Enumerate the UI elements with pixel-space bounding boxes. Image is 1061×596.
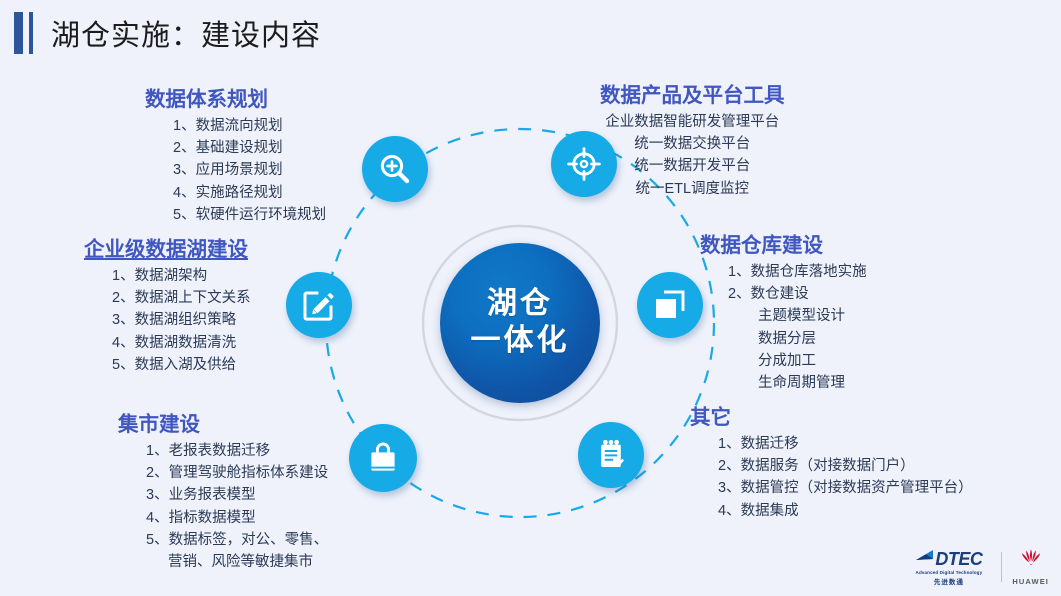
node-warehouse[interactable] xyxy=(637,272,703,338)
list-item: 2、数据服务（对接数据门户） xyxy=(718,455,973,477)
list-item-sub: 分成加工 xyxy=(728,350,867,372)
list-item: 5、软硬件运行环境规划 xyxy=(173,204,326,226)
list-item: 1、数据流向规划 xyxy=(173,115,326,137)
shopping-bag-icon xyxy=(365,440,401,476)
list-item: 3、数据管控（对接数据资产管理平台） xyxy=(718,477,973,499)
list-item: 2、管理驾驶舱指标体系建设 xyxy=(146,462,328,484)
block-planning-title: 数据体系规划 xyxy=(145,82,326,112)
list-item: 4、实施路径规划 xyxy=(173,182,326,204)
block-planning: 数据体系规划 1、数据流向规划 2、基础建设规划 3、应用场景规划 4、实施路径… xyxy=(145,82,326,226)
block-datalake: 企业级数据湖建设 1、数据湖架构 2、数据湖上下文关系 3、数据湖组织策略 4、… xyxy=(84,232,251,376)
block-market: 集市建设 1、老报表数据迁移 2、管理驾驶舱指标体系建设 3、业务报表模型 4、… xyxy=(118,407,328,573)
node-datalake[interactable] xyxy=(286,272,352,338)
list-item: 4、指标数据模型 xyxy=(146,507,328,529)
block-products-list: 企业数据智能研发管理平台 统一数据交换平台 统一数据开发平台 统一ETL调度监控 xyxy=(600,111,785,200)
list-item-sub: 数据分层 xyxy=(728,328,867,350)
list-item: 1、数据湖架构 xyxy=(112,265,251,287)
list-item: 4、数据湖数据清洗 xyxy=(112,332,251,354)
node-market[interactable] xyxy=(349,424,417,492)
footer-logos: DTEC Advanced Digital Technology 先进数通 HU… xyxy=(915,546,1049,588)
continuation-label: 营销、风险等敏捷集市 xyxy=(146,551,313,573)
block-datalake-list: 1、数据湖架构 2、数据湖上下文关系 3、数据湖组织策略 4、数据湖数据清洗 5… xyxy=(84,265,251,376)
dtec-chinese-name: 先进数通 xyxy=(934,576,964,586)
sub-label: 数据分层 xyxy=(728,328,816,350)
dtec-logo: DTEC Advanced Digital Technology 先进数通 xyxy=(915,549,991,586)
logo-divider xyxy=(1001,552,1002,582)
list-item-sub: 生命周期管理 xyxy=(728,372,867,394)
node-planning[interactable] xyxy=(362,136,428,202)
dtec-tagline: Advanced Digital Technology xyxy=(916,570,983,575)
list-item: 2、基础建设规划 xyxy=(173,137,326,159)
block-warehouse-list: 1、数据仓库落地实施 2、数仓建设 主题模型设计 数据分层 分成加工 生命周期管… xyxy=(700,261,867,394)
list-item: 5、数据标签，对公、零售、 xyxy=(146,529,328,551)
sub-label: 生命周期管理 xyxy=(728,372,845,394)
block-products: 数据产品及平台工具 企业数据智能研发管理平台 统一数据交换平台 统一数据开发平台… xyxy=(600,78,785,200)
block-warehouse: 数据仓库建设 1、数据仓库落地实施 2、数仓建设 主题模型设计 数据分层 分成加… xyxy=(700,228,867,394)
list-item: 统一数据开发平台 xyxy=(600,155,785,177)
huawei-logo: HUAWEI xyxy=(1012,548,1049,586)
notepad-check-icon xyxy=(593,437,629,473)
list-item: 2、数据湖上下文关系 xyxy=(112,287,251,309)
block-other-list: 1、数据迁移 2、数据服务（对接数据门户） 3、数据管控（对接数据资产管理平台）… xyxy=(690,433,973,522)
list-item: 企业数据智能研发管理平台 xyxy=(600,111,785,133)
dtec-arrow-icon xyxy=(915,549,935,569)
center-circle: 湖仓 一体化 xyxy=(440,243,600,403)
copy-layers-icon xyxy=(652,287,688,323)
node-other[interactable] xyxy=(578,422,644,488)
block-datalake-title: 企业级数据湖建设 xyxy=(84,232,251,262)
list-item: 统一数据交换平台 xyxy=(600,133,785,155)
sub-label: 主题模型设计 xyxy=(728,305,845,327)
block-other-title: 其它 xyxy=(690,400,973,430)
huawei-flower-icon xyxy=(1016,548,1046,575)
list-item: 3、业务报表模型 xyxy=(146,484,328,506)
dtec-logo-mark-and-word: DTEC xyxy=(915,549,982,569)
block-products-title: 数据产品及平台工具 xyxy=(600,78,785,108)
sub-label: 分成加工 xyxy=(728,350,816,372)
edit-pencil-square-icon xyxy=(301,287,337,323)
crosshair-target-icon xyxy=(566,146,602,182)
list-item: 3、应用场景规划 xyxy=(173,159,326,181)
list-item: 5、数据入湖及供给 xyxy=(112,354,251,376)
list-item-sub: 主题模型设计 xyxy=(728,305,867,327)
list-item: 统一ETL调度监控 xyxy=(600,178,785,200)
block-market-title: 集市建设 xyxy=(118,407,328,437)
center-title-line-2: 一体化 xyxy=(471,323,570,360)
center-title-line-1: 湖仓 xyxy=(487,286,553,323)
dtec-wordmark: DTEC xyxy=(935,550,982,568)
block-planning-list: 1、数据流向规划 2、基础建设规划 3、应用场景规划 4、实施路径规划 5、软硬… xyxy=(145,115,326,226)
list-item: 1、老报表数据迁移 xyxy=(146,440,328,462)
list-item: 1、数据迁移 xyxy=(718,433,973,455)
list-item-continuation: 营销、风险等敏捷集市 xyxy=(146,551,328,573)
huawei-wordmark: HUAWEI xyxy=(1012,577,1049,586)
list-item: 4、数据集成 xyxy=(718,500,973,522)
list-item: 1、数据仓库落地实施 xyxy=(728,261,867,283)
magnifier-plus-icon xyxy=(377,151,413,187)
list-item: 3、数据湖组织策略 xyxy=(112,309,251,331)
block-warehouse-title: 数据仓库建设 xyxy=(700,228,867,258)
block-market-list: 1、老报表数据迁移 2、管理驾驶舱指标体系建设 3、业务报表模型 4、指标数据模… xyxy=(118,440,328,573)
list-item: 2、数仓建设 xyxy=(728,283,867,305)
block-other: 其它 1、数据迁移 2、数据服务（对接数据门户） 3、数据管控（对接数据资产管理… xyxy=(690,400,973,522)
